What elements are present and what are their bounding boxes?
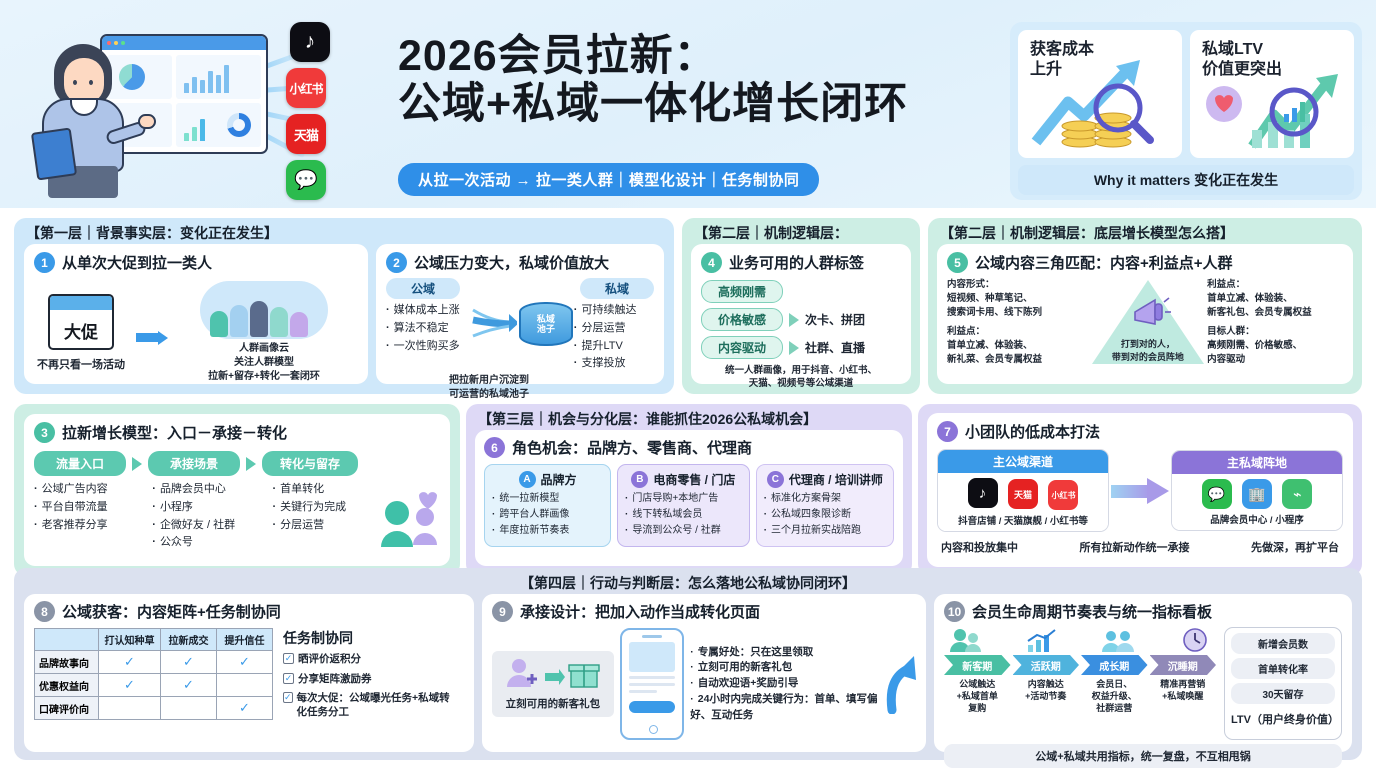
gift-caption: 立刻可用的新客礼包	[496, 696, 610, 711]
hero-illustration	[18, 14, 278, 196]
card-8-number: 8	[34, 601, 55, 622]
dormant-clock-icon	[1178, 627, 1212, 653]
phone-text-line	[629, 690, 657, 693]
kpi-item: 30天留存	[1231, 683, 1335, 704]
checklist-label: 晒评价返积分	[298, 653, 361, 667]
audience-tag: 价格敏感	[701, 308, 783, 331]
content-format-line-1: 短视频、种草笔记、	[947, 292, 1089, 306]
target-audience-line-1: 高频刚需、价格敏感、	[1207, 339, 1343, 353]
list-item: 导流到公众号 / 社群	[625, 523, 742, 539]
card-5-left-column: 内容形式： 短视频、种草笔记、 搜索词卡用、线下陈列 利益点： 首单立减、体验装…	[947, 278, 1089, 367]
list-item: 专属好处：只在这里领取	[690, 645, 878, 661]
card-1-left-caption: 不再只看一场活动	[34, 356, 128, 372]
why-card-cac: 获客成本 上升	[1018, 30, 1182, 158]
card-1-title: 从单次大促到拉一类人	[62, 252, 212, 273]
card-2-caption-1: 把拉新用户沉淀到	[324, 374, 654, 388]
card-6: 6 角色机会：品牌方、零售商、代理商 A 品牌方 统一拉新模型 跨平台人群画像 …	[475, 430, 903, 566]
card-5-title: 公域内容三角匹配：内容+利益点+人群	[975, 252, 1233, 273]
signup-gift-icon	[503, 657, 603, 691]
card-1-number: 1	[34, 252, 55, 273]
public-channel-body: ♪ 天猫 小红书 抖音店铺 / 天猫旗舰 / 小红书等	[938, 473, 1108, 531]
xiaohongshu-app-icon: 小红书	[1048, 480, 1078, 510]
benefit-head: 利益点：	[947, 325, 1089, 339]
list-item: 门店导购+本地广告	[625, 491, 742, 507]
page-title-line2: 公域+私域一体化增长闭环	[398, 80, 978, 128]
card-7-foot-3: 先做深，再扩平台	[1251, 539, 1339, 555]
gift-callout: 立刻可用的新客礼包	[492, 651, 614, 717]
presenter-illustration	[28, 44, 138, 196]
card-2-title-row: 2 公域压力变大，私域价值放大	[386, 252, 654, 273]
landing-page-phone	[620, 628, 685, 740]
role-retail-items: 门店导购+本地广告 线下转私域会员 导流到公众号 / 社群	[625, 491, 742, 540]
card-2-number: 2	[386, 252, 407, 273]
triangle-caption-2: 带到对的会员阵地	[1089, 351, 1208, 364]
card-3-title: 拉新增长模型：入口－承接－转化	[62, 422, 287, 443]
private-pool-icon: 私域 池子	[519, 302, 573, 346]
donut-chart-icon	[227, 113, 251, 137]
checklist-label: 每次大促：公域曝光任务+私域转化任务分工	[297, 692, 453, 719]
card-4-title-row: 4 业务可用的人群标签	[701, 252, 901, 273]
card-4-caption-1: 统一人群画像，用于抖音、小红书、	[701, 365, 901, 378]
layer2a-header: 【第二层｜机制逻辑层：	[682, 218, 920, 246]
audience-cloud-icon	[200, 281, 328, 339]
page-subtitle: 从拉一次活动 → 拉一类人群｜模型化设计｜任务制协同	[398, 163, 819, 196]
checklist-item[interactable]: ✓ 每次大促：公域曝光任务+私域转化任务分工	[283, 692, 453, 719]
card-3-column-2: 品牌会员中心 小程序 企微好友 / 社群 公众号	[152, 481, 268, 552]
customer-pair-icon	[379, 481, 440, 549]
card-5-right-column: 利益点： 首单立减、体验装、 新客礼包、会员专属权益 目标人群： 高频刚需、价格…	[1207, 278, 1343, 367]
tmall-logo-label: 天猫	[294, 125, 318, 144]
lifecycle-stage-4: 沉睡期	[1150, 655, 1217, 675]
calendar-header	[50, 296, 112, 310]
checklist-item[interactable]: ✓ 晒评价返积分	[283, 653, 453, 667]
card-7-foot-2: 所有拉新动作统一承接	[1080, 539, 1190, 555]
checkbox-icon[interactable]: ✓	[283, 673, 294, 684]
public-channel-box: 主公域渠道 ♪ 天猫 小红书 抖音店铺 / 天猫旗舰 / 小红书等	[937, 449, 1109, 532]
card-2-private-list: 可持续触达 分层运营 提升LTV 支撑投放	[574, 302, 654, 373]
checkbox-icon[interactable]: ✓	[283, 653, 294, 664]
row-label: 品牌故事向	[35, 651, 99, 674]
role-brand-items: 统一拉新模型 跨平台人群画像 年度拉新节奏表	[492, 491, 603, 540]
role-card-agency: C 代理商 / 培训讲师 标准化方案骨架 公私域四象限诊断 三个月拉新实战陪跑	[756, 464, 894, 547]
lifecycle-stage-2: 活跃期	[1013, 655, 1080, 675]
layer2b-header: 【第二层｜机制逻辑层：底层增长模型怎么搭】	[928, 218, 1362, 246]
phone-text-line	[629, 676, 676, 679]
hero-banner: ♪ 小红书 天猫 💬 2026会员拉新： 公域+私域一体化增长闭环 从拉一次活动…	[0, 0, 1376, 208]
why-it-matters-panel: 获客成本 上升	[1010, 22, 1362, 200]
cell: ✓	[217, 651, 273, 674]
funnel-arrows-icon	[471, 304, 517, 344]
list-item: 公私域四象限诊断	[764, 507, 886, 523]
card-3-column-1: 公域广告内容 平台自带流量 老客推荐分享	[34, 481, 148, 534]
growth-model-section: 3 拉新增长模型：入口－承接－转化 流量入口 承接场景 转化与留存 公域广告内容…	[14, 404, 460, 576]
content-format-line-2: 搜索词卡用、线下陈列	[947, 306, 1089, 320]
role-title-agency: 代理商 / 培训讲师	[789, 471, 883, 488]
card-3-column-3: 首单转化 关键行为完成 分层运营	[273, 481, 375, 534]
card-5-title-row: 5 公域内容三角匹配：内容+利益点+人群	[947, 252, 1343, 273]
role-letter-b: B	[631, 471, 648, 488]
desc-line: 权益升级、	[1081, 690, 1148, 702]
xiaohongshu-logo: 小红书	[286, 68, 326, 108]
private-channel-body: 💬 🏢 ⌁ 品牌会员中心 / 小程序	[1172, 474, 1342, 530]
card-7-foot-1: 内容和投放集中	[941, 539, 1018, 555]
role-card-brand: A 品牌方 统一拉新模型 跨平台人群画像 年度拉新节奏表	[484, 464, 611, 547]
card-3-title-row: 3 拉新增长模型：入口－承接－转化	[34, 422, 440, 443]
audience-tag: 高频刚需	[701, 280, 783, 303]
benefit-point-line-1: 首单立减、体验装、	[1207, 292, 1343, 306]
card-5-triangle: 打到对的人， 带到对的会员阵地	[1089, 278, 1208, 367]
layer3-section: 【第三层｜机会与分化层：谁能抓住2026公私域机会】 6 角色机会：品牌方、零售…	[466, 404, 912, 576]
row-label: 优惠权益向	[35, 674, 99, 697]
card-7-title: 小团队的低成本打法	[965, 421, 1100, 442]
content-format-head: 内容形式：	[947, 278, 1089, 292]
card-2-public-pill: 公域	[386, 278, 460, 299]
phone-screen	[629, 642, 676, 713]
audience-tag-result: 次卡、拼团	[805, 311, 865, 328]
kpi-item: 首单转化率	[1231, 658, 1335, 679]
card-2: 2 公域压力变大，私域价值放大 公域 私域 媒体成本上涨 算法不稳定 一次性购买…	[376, 244, 664, 384]
card-1-arrow	[136, 321, 168, 345]
kpi-board: 新增会员数 首单转化率 30天留存 LTV（用户终身价值）	[1224, 627, 1342, 740]
desc-line: 会员日、	[1081, 678, 1148, 690]
megaphone-icon	[1131, 296, 1171, 330]
miniprogram-app-icon: ⌁	[1282, 479, 1312, 509]
step-conversion: 转化与留存	[262, 451, 358, 476]
card-1: 1 从单次大促到拉一类人 大促 不再只看一场活动	[24, 244, 368, 384]
wechat-app-icon: 💬	[1202, 479, 1232, 509]
card-8: 8 公域获客：内容矩阵+任务制协同 打认知种草 拉新成交 提升信任	[24, 594, 474, 752]
bar-series	[184, 111, 205, 141]
phone-speaker	[642, 635, 662, 638]
arrow-right-icon	[246, 457, 256, 471]
public-channel-header: 主公域渠道	[938, 450, 1108, 473]
arrow-right-icon	[789, 313, 799, 327]
list-item: 品牌会员中心	[152, 481, 268, 499]
xiaohongshu-logo-label: 小红书	[289, 80, 322, 97]
list-item: 三个月拉新实战陪跑	[764, 523, 886, 539]
calendar-icon: 大促	[48, 294, 114, 350]
arrow-right-icon	[132, 457, 142, 471]
tag-row: 价格敏感 次卡、拼团	[701, 308, 901, 331]
step-scene: 承接场景	[148, 451, 240, 476]
table-header-row: 打认知种草 拉新成交 提升信任	[35, 629, 273, 651]
card-4-number: 4	[701, 252, 722, 273]
card-4-caption-2: 天猫、视频号等公域渠道	[701, 378, 901, 391]
private-channel-header: 主私域阵地	[1172, 451, 1342, 474]
list-item: 首单转化	[273, 481, 375, 499]
card-1-caption-1: 人群画像云	[176, 342, 352, 356]
checklist-item[interactable]: ✓ 分享矩阵激励券	[283, 673, 453, 687]
page-title: 2026会员拉新： 公域+私域一体化增长闭环	[398, 32, 978, 128]
benefit-line-2: 新礼菜、会员专属权益	[947, 353, 1089, 367]
phone-hero-image	[629, 642, 676, 672]
card-4: 4 业务可用的人群标签 高频刚需 价格敏感 次卡、拼团 内容驱动 社群、直播	[691, 244, 911, 384]
public-channel-caption: 抖音店铺 / 天猫旗舰 / 小红书等	[942, 513, 1104, 527]
growth-arrow-icon	[884, 654, 916, 714]
desc-line: +私域唤醒	[1150, 690, 1217, 702]
list-item: 立刻可用的新客礼包	[690, 660, 878, 676]
cell: ✓	[161, 674, 217, 697]
donut-chart-widget	[176, 103, 261, 147]
table-row: 优惠权益向 ✓ ✓	[35, 674, 273, 697]
list-item: 线下转私域会员	[625, 507, 742, 523]
list-item: 统一拉新模型	[492, 491, 603, 507]
role-title-brand: 品牌方	[541, 471, 577, 488]
card-6-title: 角色机会：品牌方、零售商、代理商	[512, 437, 752, 458]
why-it-matters-footer: Why it matters 变化正在发生	[1018, 165, 1354, 195]
card-4-title: 业务可用的人群标签	[729, 252, 864, 273]
flow-arrow-icon	[1111, 478, 1169, 504]
tag-row: 高频刚需	[701, 280, 901, 303]
cell	[217, 674, 273, 697]
why-card-list: 获客成本 上升	[1018, 30, 1354, 158]
list-item: 小程序	[152, 499, 268, 517]
list-item: 算法不稳定	[386, 320, 470, 338]
card-9-number: 9	[492, 601, 513, 622]
phone-cta-button[interactable]	[629, 701, 676, 713]
card-10-footer: 公域+私域共用指标，统一复盘，不互相甩锅	[944, 744, 1342, 768]
phone-text-line	[629, 683, 676, 686]
lifecycle-panel: 新客期 活跃期 成长期 沉睡期 公域触达 +私域首单 复购 内容触达	[944, 627, 1216, 740]
audience-tag-result: 社群、直播	[805, 339, 865, 356]
kpi-item: 新增会员数	[1231, 633, 1335, 654]
role-letter-a: A	[519, 471, 536, 488]
card-5-number: 5	[947, 252, 968, 273]
presenter-eye	[89, 80, 93, 85]
card-3: 3 拉新增长模型：入口－承接－转化 流量入口 承接场景 转化与留存 公域广告内容…	[24, 414, 450, 566]
card-7: 7 小团队的低成本打法 主公域渠道 ♪ 天猫 小红书 抖音店铺 / 天猫旗舰 /…	[927, 413, 1353, 567]
list-item: 关键行为完成	[273, 499, 375, 517]
private-channel-box: 主私域阵地 💬 🏢 ⌁ 品牌会员中心 / 小程序	[1171, 450, 1343, 531]
cell	[161, 697, 217, 720]
calendar-label: 大促	[50, 310, 112, 343]
col-header-1: 打认知种草	[99, 629, 161, 651]
benefit-point-head: 利益点：	[1207, 278, 1343, 292]
tiktok-logo-label: ♪	[305, 30, 316, 54]
card-9-item-list: 专属好处：只在这里领取 立刻可用的新客礼包 自动欢迎语+奖励引导 24小时内完成…	[690, 645, 878, 724]
bar-series	[184, 63, 229, 93]
card-6-title-row: 6 角色机会：品牌方、零售商、代理商	[484, 437, 894, 458]
list-item: 支撑投放	[574, 355, 654, 373]
cac-trend-icon	[1018, 30, 1182, 158]
list-item: 公域广告内容	[34, 481, 148, 499]
card-5: 5 公域内容三角匹配：内容+利益点+人群 内容形式： 短视频、种草笔记、 搜索词…	[937, 244, 1353, 384]
page-title-line1: 2026会员拉新：	[398, 32, 978, 80]
line-chart-widget	[176, 55, 261, 99]
douyin-app-icon: ♪	[968, 478, 998, 508]
list-item: 提升LTV	[574, 338, 654, 356]
card-7-title-row: 7 小团队的低成本打法	[937, 421, 1343, 442]
active-growth-icon	[1025, 627, 1059, 653]
card-2-caption-2: 可运营的私域池子	[324, 388, 654, 402]
layer4-header: 【第四层｜行动与判断层：怎么落地公私域协同闭环】	[14, 568, 1362, 596]
list-item: 平台自带流量	[34, 499, 148, 517]
audience-tag: 内容驱动	[701, 336, 783, 359]
desc-line: 内容触达	[1013, 678, 1080, 690]
wechat-logo: 💬	[286, 160, 326, 200]
list-item: 公众号	[152, 534, 268, 552]
card-1-right-block: 人群画像云 关注人群模型 拉新+留存+转化一套闭环	[176, 281, 352, 384]
kpi-item: LTV（用户终身价值）	[1231, 708, 1335, 730]
card-10: 10 会员生命周期节奏表与统一指标看板 新客期 活跃期 成长期 沉睡期	[934, 594, 1352, 752]
layer2b-section: 【第二层｜机制逻辑层：底层增长模型怎么搭】 5 公域内容三角匹配：内容+利益点+…	[928, 218, 1362, 394]
layer4-section: 【第四层｜行动与判断层：怎么落地公私域协同闭环】 8 公域获客：内容矩阵+任务制…	[14, 568, 1362, 760]
cell: ✓	[99, 651, 161, 674]
col-header-2: 拉新成交	[161, 629, 217, 651]
desc-line: 社群运营	[1081, 702, 1148, 714]
lifecycle-desc-1: 公域触达 +私域首单 复购	[944, 678, 1011, 714]
presenter-hand	[138, 114, 156, 129]
checkbox-icon[interactable]: ✓	[283, 692, 293, 703]
wechat-logo-label: 💬	[294, 168, 318, 192]
card-1-title-row: 1 从单次大促到拉一类人	[34, 252, 358, 273]
low-cost-playbook-section: 7 小团队的低成本打法 主公域渠道 ♪ 天猫 小红书 抖音店铺 / 天猫旗舰 /…	[918, 404, 1362, 576]
private-channel-caption: 品牌会员中心 / 小程序	[1176, 512, 1338, 526]
wecom-app-icon: 🏢	[1242, 479, 1272, 509]
card-9: 9 承接设计：把加入动作当成转化页面 立刻可用的新客礼包	[482, 594, 926, 752]
checklist-label: 分享矩阵激励券	[298, 673, 372, 687]
content-matrix-table: 打认知种草 拉新成交 提升信任 品牌故事向 ✓ ✓ ✓	[34, 628, 273, 720]
card-1-left-block: 大促 不再只看一场活动	[34, 294, 128, 372]
tag-row: 内容驱动 社群、直播	[701, 336, 901, 359]
card-7-number: 7	[937, 421, 958, 442]
list-item: 跨平台人群画像	[492, 507, 603, 523]
ltv-trend-icon	[1190, 30, 1354, 158]
cell: ✓	[217, 697, 273, 720]
layer2a-section: 【第二层｜机制逻辑层： 4 业务可用的人群标签 高频刚需 价格敏感 次卡、拼团 …	[682, 218, 920, 394]
role-card-retail: B 电商零售 / 门店 门店导购+本地广告 线下转私域会员 导流到公众号 / 社…	[617, 464, 750, 547]
member-group-icon	[1101, 627, 1135, 653]
lifecycle-stage-3: 成长期	[1081, 655, 1148, 675]
lifecycle-desc-3: 会员日、 权益升级、 社群运营	[1081, 678, 1148, 714]
layer1-header: 【第一层｜背景事实层：变化正在发生】	[14, 218, 674, 246]
target-audience-line-2: 内容驱动	[1207, 353, 1343, 367]
presenter-eye	[73, 80, 77, 85]
tmall-logo: 天猫	[286, 114, 326, 154]
list-item: 标准化方案骨架	[764, 491, 886, 507]
people-group-icon	[210, 301, 308, 337]
list-item: 可持续触达	[574, 302, 654, 320]
desc-line: 公域触达	[944, 678, 1011, 690]
card-10-title: 会员生命周期节奏表与统一指标看板	[972, 601, 1212, 622]
layer3-header: 【第三层｜机会与分化层：谁能抓住2026公私域机会】	[466, 404, 912, 432]
col-header-0	[35, 629, 99, 651]
infographic-page: ♪ 小红书 天猫 💬 2026会员拉新： 公域+私域一体化增长闭环 从拉一次活动…	[0, 0, 1376, 768]
card-3-number: 3	[34, 422, 55, 443]
desc-line: +活动节奏	[1013, 690, 1080, 702]
list-item: 自动欢迎语+奖励引导	[690, 676, 878, 692]
list-item: 企微好友 / 社群	[152, 517, 268, 535]
card-9-title: 承接设计：把加入动作当成转化页面	[520, 601, 760, 622]
checklist-title: 任务制协同	[283, 628, 453, 648]
card-2-funnel: 私域 池子	[470, 302, 574, 373]
card-2-title: 公域压力变大，私域价值放大	[414, 252, 609, 273]
card-8-title-row: 8 公域获客：内容矩阵+任务制协同	[34, 601, 464, 622]
phone-home-button	[649, 725, 658, 734]
list-item: 分层运营	[574, 320, 654, 338]
list-item: 24小时内完成关键行为：首单、填写偏好、互动任务	[690, 692, 878, 724]
triangle-caption-1: 打到对的人，	[1089, 338, 1208, 351]
benefit-line-1: 首单立减、体验装、	[947, 339, 1089, 353]
tmall-app-icon: 天猫	[1008, 479, 1038, 509]
card-10-number: 10	[944, 601, 965, 622]
row-label: 口碑评价向	[35, 697, 99, 720]
list-item: 分层运营	[273, 517, 375, 535]
lifecycle-desc-2: 内容触达 +活动节奏	[1013, 678, 1080, 714]
list-item: 年度拉新节奏表	[492, 523, 603, 539]
tiktok-logo: ♪	[290, 22, 330, 62]
desc-line: 精准再营销	[1150, 678, 1217, 690]
card-2-public-list: 媒体成本上涨 算法不稳定 一次性购买多	[386, 302, 470, 373]
new-customer-icon	[948, 627, 982, 653]
card-8-title: 公域获客：内容矩阵+任务制协同	[62, 601, 281, 622]
table-row: 品牌故事向 ✓ ✓ ✓	[35, 651, 273, 674]
lifecycle-stage-1: 新客期	[944, 655, 1011, 675]
benefit-point-line-2: 新客礼包、会员专属权益	[1207, 306, 1343, 320]
card-8-checklist-panel: 任务制协同 ✓ 晒评价返积分 ✓ 分享矩阵激励券 ✓ 每次大促：公域曝光任务+私…	[283, 628, 453, 720]
role-agency-items: 标准化方案骨架 公私域四象限诊断 三个月拉新实战陪跑	[764, 491, 886, 540]
layer1-section: 【第一层｜背景事实层：变化正在发生】 1 从单次大促到拉一类人 大促 不再只看一…	[14, 218, 674, 394]
presenter-folder	[31, 127, 77, 180]
step-entry: 流量入口	[34, 451, 126, 476]
platform-logo-list: ♪ 小红书 天猫 💬	[272, 18, 340, 198]
cell: ✓	[99, 674, 161, 697]
desc-line: +私域首单	[944, 690, 1011, 702]
role-letter-c: C	[767, 471, 784, 488]
target-audience-head: 目标人群：	[1207, 325, 1343, 339]
lifecycle-desc-4: 精准再营销 +私域唤醒	[1150, 678, 1217, 714]
cell: ✓	[161, 651, 217, 674]
list-item: 一次性购买多	[386, 338, 470, 356]
card-9-title-row: 9 承接设计：把加入动作当成转化页面	[492, 601, 916, 622]
cell	[99, 697, 161, 720]
card-2-private-pill: 私域	[580, 278, 654, 299]
list-item: 媒体成本上涨	[386, 302, 470, 320]
col-header-3: 提升信任	[217, 629, 273, 651]
arrow-right-icon	[789, 341, 799, 355]
card-10-title-row: 10 会员生命周期节奏表与统一指标看板	[944, 601, 1342, 622]
table-row: 口碑评价向 ✓	[35, 697, 273, 720]
role-title-retail: 电商零售 / 门店	[653, 471, 735, 488]
desc-line: 复购	[944, 702, 1011, 714]
card-1-caption-2: 关注人群模型	[176, 356, 352, 370]
why-card-ltv: 私域LTV 价值更突出	[1190, 30, 1354, 158]
list-item: 老客推荐分享	[34, 517, 148, 535]
card-6-number: 6	[484, 437, 505, 458]
